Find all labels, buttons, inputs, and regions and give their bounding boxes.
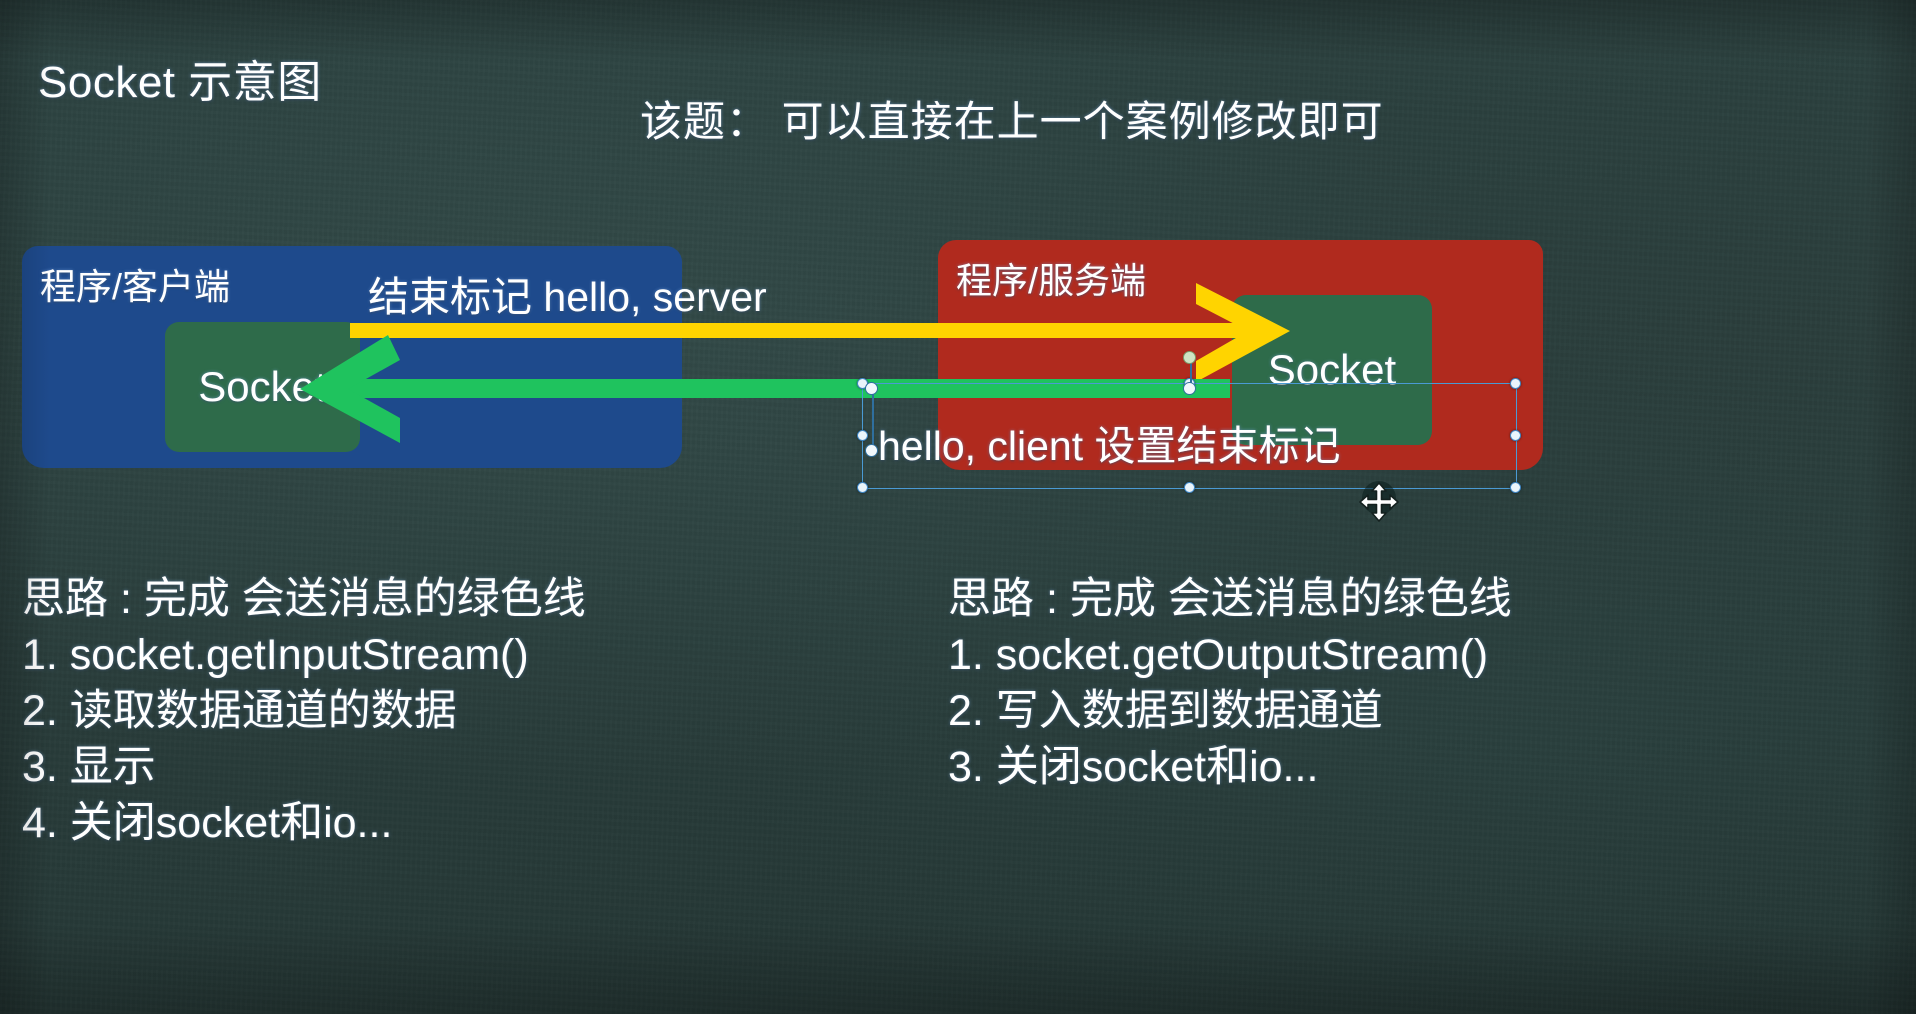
notes-left-item-1: 1. socket.getInputStream()	[22, 628, 586, 684]
page-title: Socket 示意图	[38, 46, 322, 110]
notes-right-block: 思路 : 完成 会送消息的绿色线 1. socket.getOutputStre…	[948, 572, 1512, 796]
notes-right-item-3: 3. 关闭socket和io...	[948, 740, 1512, 796]
client-socket-label: Socket	[198, 363, 326, 411]
line-endpoint-left[interactable]	[865, 444, 878, 457]
slide-subtitle: 该题： 可以直接在上一个案例修改即可	[640, 88, 1384, 149]
notes-left-heading: 思路 : 完成 会送消息的绿色线	[22, 572, 586, 628]
notes-left-item-4: 4. 关闭socket和io...	[22, 796, 586, 852]
rotation-handle[interactable]	[1183, 351, 1196, 364]
client-panel-label: 程序/客户端	[40, 258, 230, 310]
notes-right-heading: 思路 : 完成 会送消息的绿色线	[948, 572, 1512, 628]
notes-right-item-1: 1. socket.getOutputStream()	[948, 628, 1512, 684]
green-arrow-label: hello, client 设置结束标记	[878, 412, 1341, 472]
server-socket-label: Socket	[1268, 346, 1396, 394]
line-handle-right[interactable]	[1183, 382, 1196, 395]
notes-left-item-2: 2. 读取数据通道的数据	[22, 684, 586, 740]
move-cursor-icon	[1355, 478, 1403, 526]
line-handle-left[interactable]	[865, 382, 878, 395]
connector-stem-left	[872, 389, 874, 451]
server-panel-label: 程序/服务端	[956, 252, 1146, 304]
yellow-arrow-label: 结束标记 hello, server	[368, 263, 767, 323]
chalkboard-background	[0, 0, 1916, 1014]
notes-right-item-2: 2. 写入数据到数据通道	[948, 684, 1512, 740]
client-socket-box[interactable]: Socket	[165, 322, 360, 452]
notes-left-block: 思路 : 完成 会送消息的绿色线 1. socket.getInputStrea…	[22, 572, 586, 851]
notes-left-item-3: 3. 显示	[22, 740, 586, 796]
